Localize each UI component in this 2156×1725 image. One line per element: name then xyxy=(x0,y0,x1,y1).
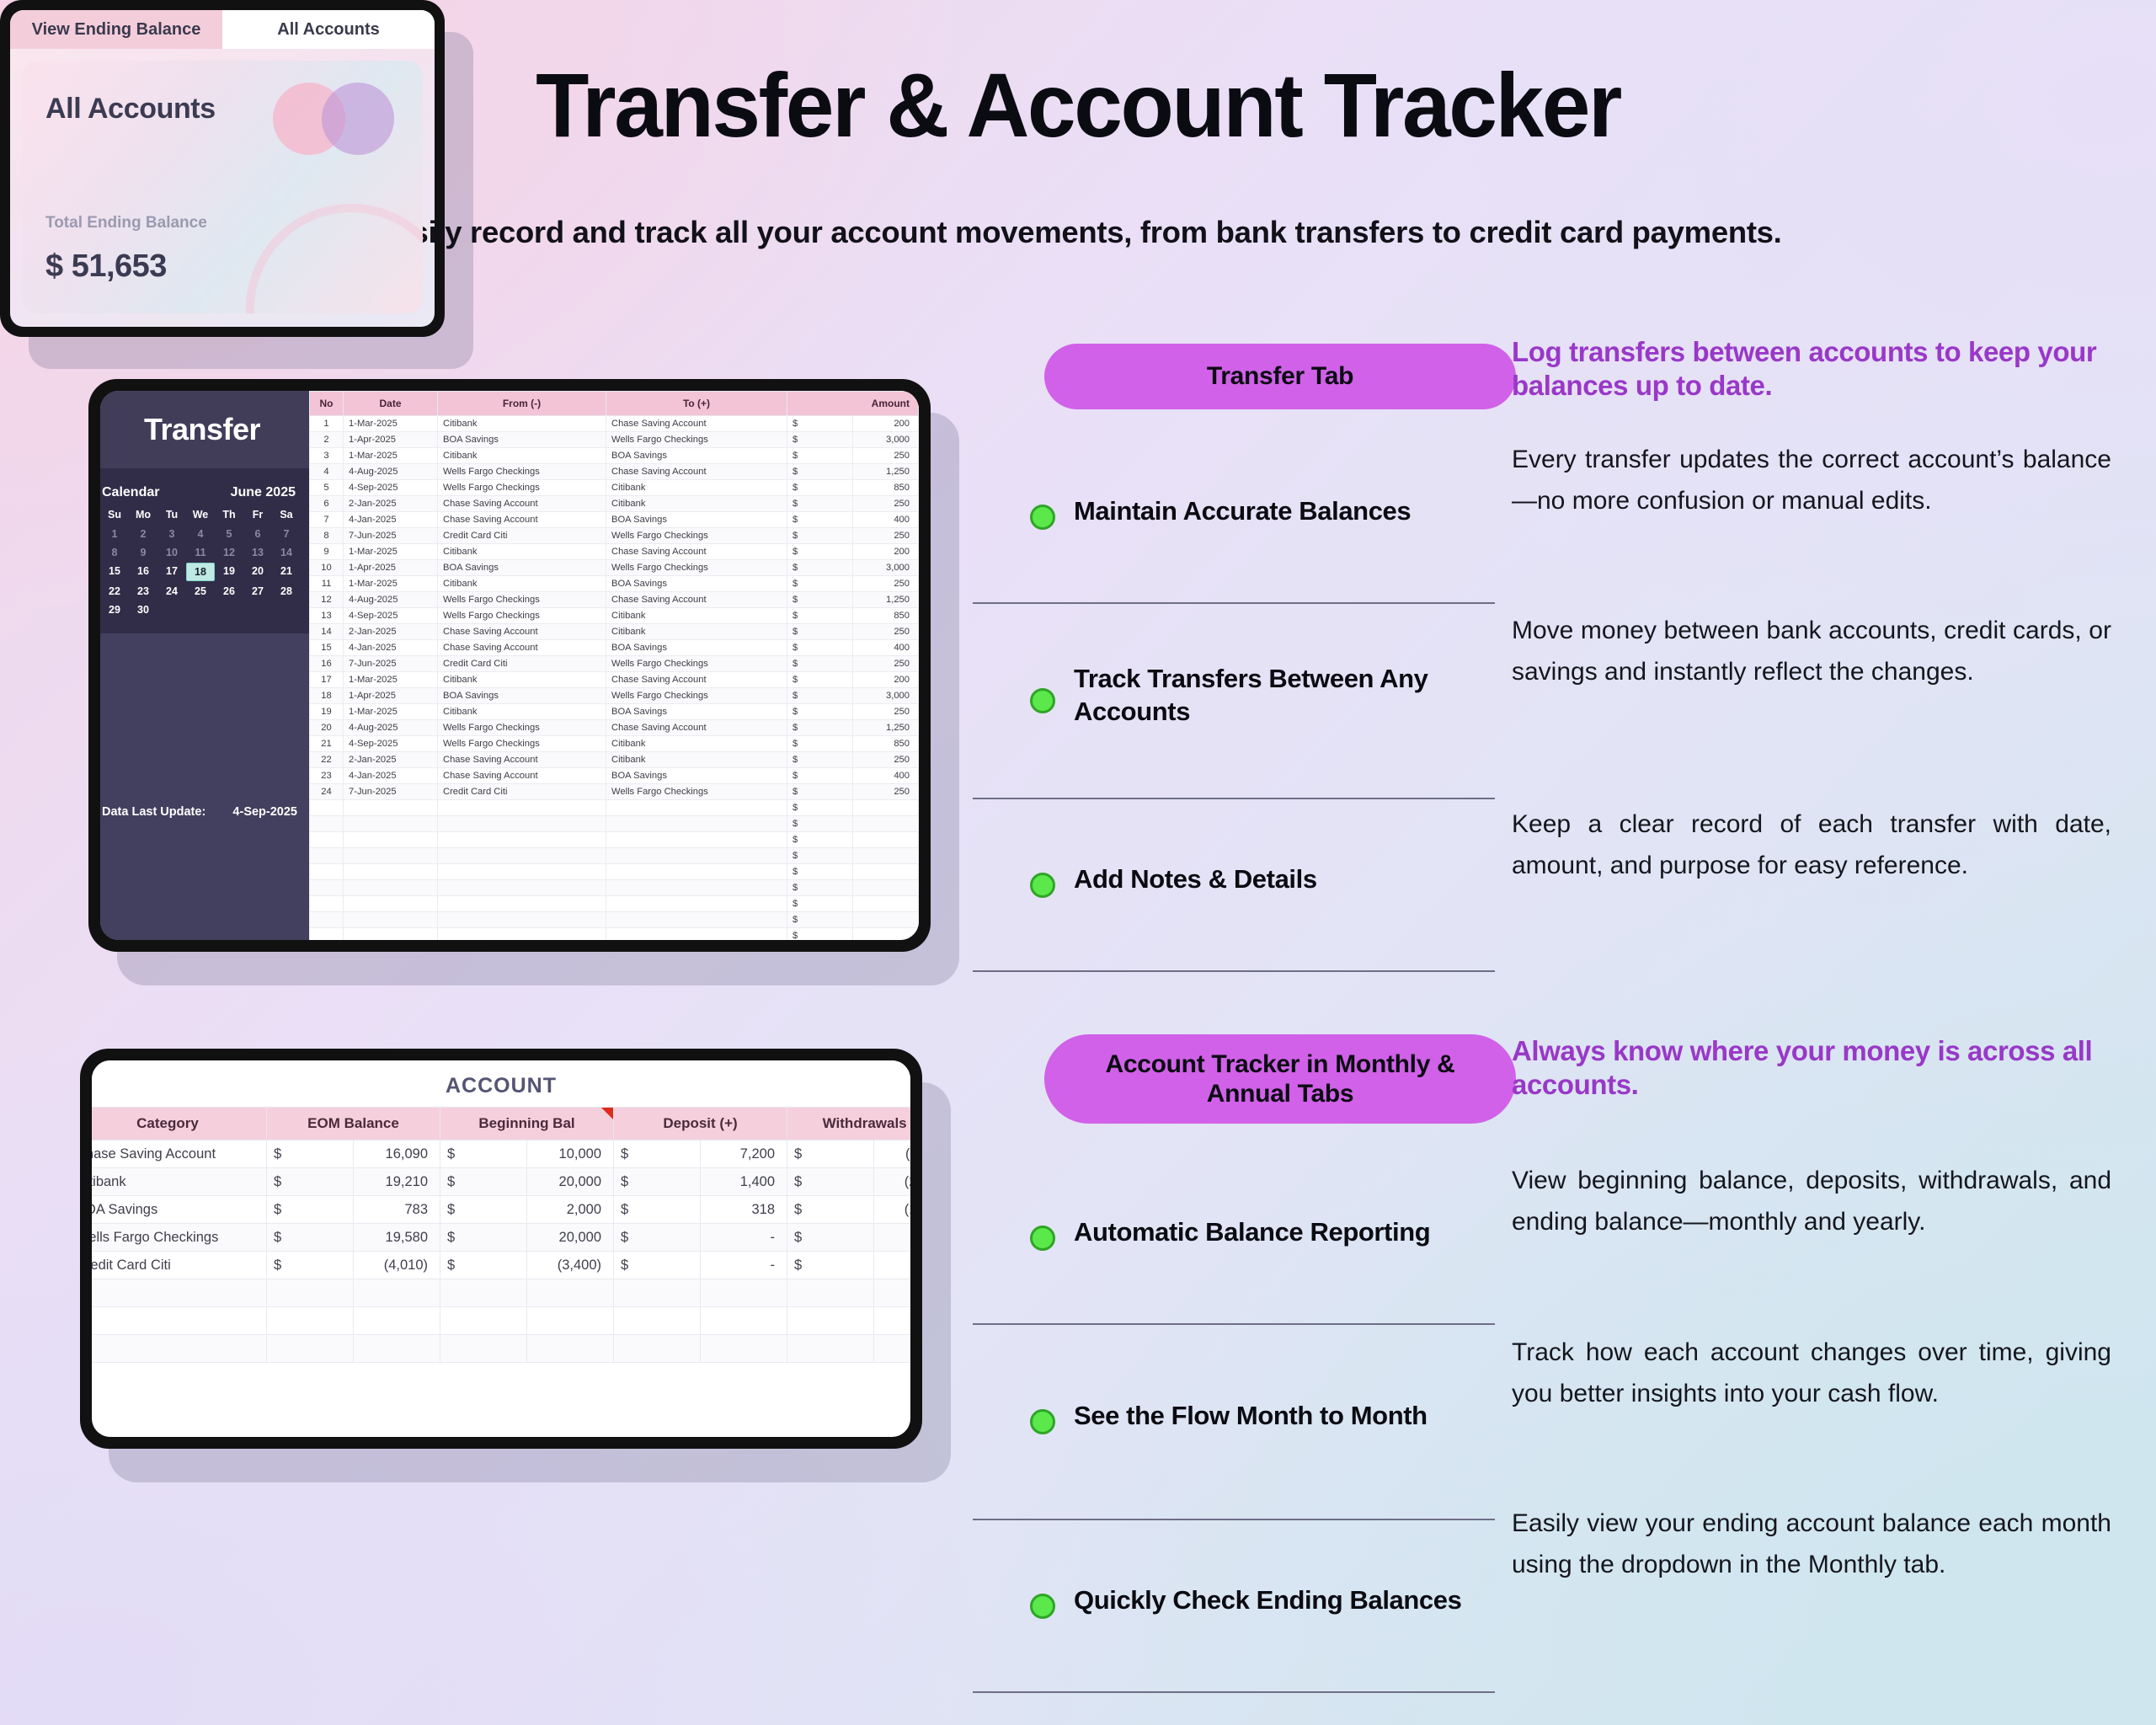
ending-balance-card-mockup: View Ending Balance All Accounts All Acc… xyxy=(0,0,445,337)
table-cell: 3,000 xyxy=(853,560,919,576)
table-cell: $ xyxy=(787,784,853,800)
table-cell: $ xyxy=(787,768,853,784)
table-cell xyxy=(874,1335,911,1363)
table-cell: (1,110) xyxy=(874,1140,911,1168)
table-cell xyxy=(267,1279,354,1307)
calendar-day[interactable]: 20 xyxy=(243,563,272,581)
table-cell xyxy=(606,832,787,848)
table-cell xyxy=(527,1279,614,1307)
table-cell: (610) xyxy=(874,1252,911,1279)
table-cell xyxy=(310,832,344,848)
account-col-header: Deposit (+) xyxy=(614,1108,787,1140)
table-cell: $ xyxy=(787,624,853,640)
table-cell: $ xyxy=(787,688,853,704)
transfer-col-header: Amount xyxy=(787,392,919,416)
table-cell: $ xyxy=(267,1224,354,1252)
calendar-dow: Su xyxy=(100,509,129,524)
table-cell: $ xyxy=(787,1196,874,1224)
table-cell xyxy=(606,800,787,816)
table-cell: $ xyxy=(787,752,853,768)
table-cell: Chase Saving Account xyxy=(606,672,787,688)
table-cell: 250 xyxy=(853,624,919,640)
calendar-day[interactable]: 11 xyxy=(186,544,215,561)
calendar-day[interactable]: 6 xyxy=(243,526,272,542)
calendar-day[interactable]: 2 xyxy=(129,526,157,542)
table-row[interactable]: 204-Aug-2025Wells Fargo CheckingsChase S… xyxy=(310,720,919,736)
table-cell: 7-Jun-2025 xyxy=(344,784,438,800)
table-cell: Wells Fargo Checkings xyxy=(438,608,606,624)
table-cell: Chase Saving Account xyxy=(438,624,606,640)
calendar-day[interactable]: 27 xyxy=(243,583,272,600)
table-cell xyxy=(344,816,438,832)
account-tablet-mockup: ACCOUNT CategoryEOM BalanceBeginning Bal… xyxy=(80,1049,922,1449)
table-row[interactable] xyxy=(92,1279,910,1307)
table-cell: $ xyxy=(614,1252,701,1279)
calendar-day[interactable]: 28 xyxy=(272,583,301,600)
table-cell: 4-Aug-2025 xyxy=(344,592,438,608)
transfer-spreadsheet[interactable]: NoDateFrom (-)To (+)Amount 11-Mar-2025Ci… xyxy=(309,391,919,940)
feature-paragraph: View beginning balance, deposits, withdr… xyxy=(1512,1161,2111,1242)
table-cell xyxy=(310,912,344,928)
table-cell: 20,000 xyxy=(527,1168,614,1196)
feature-label: Maintain Accurate Balances xyxy=(1074,494,1411,527)
table-cell: 2-Jan-2025 xyxy=(344,752,438,768)
feature-item[interactable]: Automatic Balance Reporting xyxy=(973,1152,1495,1325)
table-cell: 850 xyxy=(853,736,919,752)
calendar-day[interactable]: 19 xyxy=(215,563,243,581)
table-cell: Citibank xyxy=(438,416,606,432)
table-cell: $ xyxy=(787,608,853,624)
transfer-sidebar: Transfer Calendar June 2025 SuMoTuWeThFr… xyxy=(100,391,309,940)
last-update-label: Data Last Update: xyxy=(102,805,205,819)
table-cell: 5 xyxy=(310,480,344,496)
table-cell xyxy=(440,1307,527,1335)
table-row[interactable] xyxy=(92,1335,910,1363)
table-row[interactable]: BOA Savings$783$2,000$318$(1,535) xyxy=(92,1196,910,1224)
table-cell: 1,400 xyxy=(701,1168,787,1196)
table-cell: 1-Mar-2025 xyxy=(344,576,438,592)
table-cell: 1-Mar-2025 xyxy=(344,704,438,720)
table-cell: Chase Saving Account xyxy=(438,512,606,528)
table-cell: 10 xyxy=(310,560,344,576)
table-row[interactable]: $ xyxy=(310,848,919,864)
table-cell xyxy=(354,1335,440,1363)
table-cell xyxy=(310,848,344,864)
table-cell: $ xyxy=(787,640,853,656)
table-cell: 7 xyxy=(310,512,344,528)
table-cell xyxy=(606,816,787,832)
table-row[interactable]: 62-Jan-2025Chase Saving AccountCitibank$… xyxy=(310,496,919,512)
calendar-day[interactable]: 25 xyxy=(186,583,215,600)
table-row[interactable]: Wells Fargo Checkings$19,580$20,000$-$(4… xyxy=(92,1224,910,1252)
table-cell xyxy=(874,1307,911,1335)
table-cell: Chase Saving Account xyxy=(438,768,606,784)
table-cell: $ xyxy=(787,448,853,464)
table-cell: $ xyxy=(787,704,853,720)
table-cell xyxy=(606,848,787,864)
table-cell: $ xyxy=(787,592,853,608)
table-cell: $ xyxy=(787,816,853,832)
table-cell: 1-Apr-2025 xyxy=(344,432,438,448)
table-row[interactable]: $ xyxy=(310,928,919,941)
table-cell xyxy=(344,896,438,912)
table-row[interactable]: 31-Mar-2025CitibankBOA Savings$250 xyxy=(310,448,919,464)
section-kicker-transfer: Log transfers between accounts to keep y… xyxy=(1512,335,2127,403)
table-cell xyxy=(787,1279,874,1307)
transfer-table-header-row: NoDateFrom (-)To (+)Amount xyxy=(310,392,919,416)
table-cell xyxy=(310,928,344,941)
table-cell: $ xyxy=(787,1140,874,1168)
calendar-day[interactable]: 17 xyxy=(157,563,186,581)
section-kicker-account: Always know where your money is across a… xyxy=(1512,1034,2127,1103)
table-cell xyxy=(853,864,919,880)
table-row[interactable]: 21-Apr-2025BOA SavingsWells Fargo Checki… xyxy=(310,432,919,448)
table-cell: Wells Fargo Checkings xyxy=(606,688,787,704)
feature-item[interactable]: See the Flow Month to Month xyxy=(973,1325,1495,1520)
calendar-day[interactable]: 30 xyxy=(129,601,157,618)
calendar-day[interactable]: 24 xyxy=(157,583,186,600)
tab-view-ending-balance[interactable]: View Ending Balance xyxy=(10,10,222,49)
calendar-day[interactable]: 4 xyxy=(186,526,215,542)
table-cell: $ xyxy=(787,1224,874,1252)
table-cell xyxy=(438,864,606,880)
account-col-header: Category xyxy=(92,1108,267,1140)
table-cell: 14 xyxy=(310,624,344,640)
table-cell: Citibank xyxy=(438,672,606,688)
calendar-day[interactable]: 21 xyxy=(272,563,301,581)
table-row[interactable]: 247-Jun-2025Credit Card CitiWells Fargo … xyxy=(310,784,919,800)
calendar-day[interactable]: 12 xyxy=(215,544,243,561)
table-row[interactable] xyxy=(92,1307,910,1335)
table-row[interactable]: 44-Aug-2025Wells Fargo CheckingsChase Sa… xyxy=(310,464,919,480)
table-cell xyxy=(440,1335,527,1363)
table-cell: $ xyxy=(440,1168,527,1196)
table-cell: Chase Saving Account xyxy=(606,464,787,480)
calendar-dow: We xyxy=(186,509,215,524)
table-cell xyxy=(874,1279,911,1307)
table-cell: 9 xyxy=(310,544,344,560)
table-cell xyxy=(440,1279,527,1307)
table-cell: - xyxy=(701,1252,787,1279)
calendar-day[interactable]: 5 xyxy=(215,526,243,542)
table-cell: $ xyxy=(787,880,853,896)
table-cell xyxy=(701,1307,787,1335)
table-cell: Wells Fargo Checkings xyxy=(92,1224,267,1252)
feature-paragraph: Keep a clear record of each transfer wit… xyxy=(1512,804,2111,886)
table-cell: 850 xyxy=(853,608,919,624)
table-cell: 19 xyxy=(310,704,344,720)
table-cell xyxy=(853,896,919,912)
table-row[interactable]: Credit Card Citi$(4,010)$(3,400)$-$(610) xyxy=(92,1252,910,1279)
table-cell: Wells Fargo Checkings xyxy=(438,592,606,608)
table-row[interactable]: 167-Jun-2025Credit Card CitiWells Fargo … xyxy=(310,656,919,672)
calendar-day[interactable]: 9 xyxy=(129,544,157,561)
table-cell: 250 xyxy=(853,496,919,512)
table-row[interactable]: $ xyxy=(310,912,919,928)
feature-paragraph: Every transfer updates the correct accou… xyxy=(1512,440,2111,521)
table-cell xyxy=(92,1307,267,1335)
decorative-arc xyxy=(246,204,423,313)
calendar-dow: Sa xyxy=(272,509,301,524)
account-table[interactable]: CategoryEOM BalanceBeginning BalDeposit … xyxy=(92,1107,910,1363)
table-cell xyxy=(438,896,606,912)
table-cell: 1,250 xyxy=(853,720,919,736)
table-cell: Wells Fargo Checkings xyxy=(606,560,787,576)
calendar-dow: Th xyxy=(215,509,243,524)
account-sheet-title: ACCOUNT xyxy=(92,1060,910,1107)
calendar-day[interactable]: 8 xyxy=(100,544,129,561)
table-cell xyxy=(438,880,606,896)
table-row[interactable]: 111-Mar-2025CitibankBOA Savings$250 xyxy=(310,576,919,592)
table-cell: $ xyxy=(787,800,853,816)
table-cell: $ xyxy=(787,736,853,752)
calendar-day[interactable]: 7 xyxy=(272,526,301,542)
tab-all-accounts[interactable]: All Accounts xyxy=(222,10,435,49)
table-cell: $ xyxy=(267,1168,354,1196)
table-cell: 3,000 xyxy=(853,432,919,448)
calendar-label: Calendar xyxy=(102,485,159,500)
section-pill-account-tracker[interactable]: Account Tracker in Monthly & Annual Tabs xyxy=(1044,1034,1516,1124)
table-cell: $ xyxy=(787,512,853,528)
table-cell: $ xyxy=(787,480,853,496)
table-row[interactable]: 154-Jan-2025Chase Saving AccountBOA Savi… xyxy=(310,640,919,656)
table-cell: 250 xyxy=(853,528,919,544)
total-ending-balance-value: $ 51,653 xyxy=(45,248,167,285)
bullet-dot-icon xyxy=(1030,1226,1055,1251)
calendar-day[interactable]: 10 xyxy=(157,544,186,561)
feature-item[interactable]: Maintain Accurate Balances xyxy=(973,431,1495,604)
table-cell xyxy=(853,800,919,816)
table-cell: 400 xyxy=(853,512,919,528)
table-row[interactable]: 91-Mar-2025CitibankChase Saving Account$… xyxy=(310,544,919,560)
table-cell: - xyxy=(701,1224,787,1252)
table-cell: Chase Saving Account xyxy=(438,640,606,656)
table-cell xyxy=(344,848,438,864)
table-cell: $ xyxy=(787,896,853,912)
table-row[interactable]: $ xyxy=(310,864,919,880)
table-row[interactable]: $ xyxy=(310,896,919,912)
table-cell: $ xyxy=(614,1224,701,1252)
account-table-header-row: CategoryEOM BalanceBeginning BalDeposit … xyxy=(92,1108,910,1140)
table-cell: 1,250 xyxy=(853,592,919,608)
table-cell: $ xyxy=(787,528,853,544)
table-cell: Citibank xyxy=(438,576,606,592)
table-cell xyxy=(853,848,919,864)
table-cell: 1-Mar-2025 xyxy=(344,672,438,688)
table-cell: Chase Saving Account xyxy=(438,496,606,512)
table-row[interactable]: Chase Saving Account$16,090$10,000$7,200… xyxy=(92,1140,910,1168)
table-cell: Citibank xyxy=(438,448,606,464)
feature-paragraph: Move money between bank accounts, credit… xyxy=(1512,611,2111,692)
table-row[interactable]: $ xyxy=(310,880,919,896)
transfer-sidebar-header: Transfer xyxy=(100,391,309,468)
calendar-dow: Fr xyxy=(243,509,272,524)
transfer-col-header: From (-) xyxy=(438,392,606,416)
table-cell: $ xyxy=(787,432,853,448)
table-cell: 850 xyxy=(853,480,919,496)
calendar-day[interactable]: 26 xyxy=(215,583,243,600)
table-row[interactable]: 134-Sep-2025Wells Fargo CheckingsCitiban… xyxy=(310,608,919,624)
calendar-day[interactable]: 15 xyxy=(100,563,129,581)
calendar-dow: Tu xyxy=(157,509,186,524)
table-cell: 1,250 xyxy=(853,464,919,480)
table-cell: 24 xyxy=(310,784,344,800)
table-cell: 4-Sep-2025 xyxy=(344,480,438,496)
bullet-dot-icon xyxy=(1030,873,1055,898)
table-row[interactable]: 54-Sep-2025Wells Fargo CheckingsCitibank… xyxy=(310,480,919,496)
feature-label: Track Transfers Between Any Accounts xyxy=(1074,662,1495,728)
overlap-circle-right-icon xyxy=(322,83,394,155)
table-cell: 2-Jan-2025 xyxy=(344,496,438,512)
table-cell: 2,000 xyxy=(527,1196,614,1224)
table-cell: $ xyxy=(787,928,853,941)
table-cell: 783 xyxy=(354,1196,440,1224)
calendar-day[interactable]: 23 xyxy=(129,583,157,600)
table-cell xyxy=(344,800,438,816)
table-row[interactable]: 74-Jan-2025Chase Saving AccountBOA Savin… xyxy=(310,512,919,528)
table-cell: (2,190) xyxy=(874,1168,911,1196)
table-cell: 10,000 xyxy=(527,1140,614,1168)
table-row[interactable]: $ xyxy=(310,832,919,848)
calendar-grid[interactable]: SuMoTuWeThFrSa12345678910111213141516171… xyxy=(100,509,309,618)
table-cell: Wells Fargo Checkings xyxy=(606,656,787,672)
table-cell: 6 xyxy=(310,496,344,512)
table-row[interactable]: $ xyxy=(310,800,919,816)
table-cell xyxy=(344,864,438,880)
table-cell xyxy=(310,896,344,912)
calendar-day[interactable]: 13 xyxy=(243,544,272,561)
transfer-col-header: No xyxy=(310,392,344,416)
table-cell: $ xyxy=(614,1140,701,1168)
table-cell: 11 xyxy=(310,576,344,592)
table-cell: BOA Savings xyxy=(606,640,787,656)
balance-card-tabs: View Ending Balance All Accounts xyxy=(10,10,435,49)
table-cell: 250 xyxy=(853,752,919,768)
table-cell: Citibank xyxy=(606,736,787,752)
table-cell: Credit Card Citi xyxy=(438,784,606,800)
table-cell: 20 xyxy=(310,720,344,736)
table-cell xyxy=(344,880,438,896)
table-cell: $ xyxy=(787,720,853,736)
table-cell: 7-Jun-2025 xyxy=(344,656,438,672)
table-cell: 17 xyxy=(310,672,344,688)
table-cell: Wells Fargo Checkings xyxy=(606,432,787,448)
feature-item[interactable]: Add Notes & Details xyxy=(973,799,1495,972)
feature-paragraph: Track how each account changes over time… xyxy=(1512,1332,2111,1414)
balance-card-title: All Accounts xyxy=(45,93,216,126)
table-row[interactable]: 234-Jan-2025Chase Saving AccountBOA Savi… xyxy=(310,768,919,784)
table-cell: Wells Fargo Checkings xyxy=(606,784,787,800)
table-cell: $ xyxy=(787,544,853,560)
table-row[interactable]: 101-Apr-2025BOA SavingsWells Fargo Check… xyxy=(310,560,919,576)
table-row[interactable]: 214-Sep-2025Wells Fargo CheckingsCitiban… xyxy=(310,736,919,752)
table-cell xyxy=(92,1279,267,1307)
table-cell xyxy=(438,800,606,816)
table-cell: $ xyxy=(787,496,853,512)
table-cell: Wells Fargo Checkings xyxy=(438,720,606,736)
feature-item[interactable]: Track Transfers Between Any Accounts xyxy=(973,604,1495,799)
table-cell: 200 xyxy=(853,416,919,432)
table-row[interactable]: $ xyxy=(310,816,919,832)
table-cell: Citibank xyxy=(606,480,787,496)
table-cell xyxy=(267,1307,354,1335)
table-row[interactable]: 181-Apr-2025BOA SavingsWells Fargo Check… xyxy=(310,688,919,704)
calendar-day-selected[interactable]: 18 xyxy=(186,563,215,581)
table-cell xyxy=(344,912,438,928)
table-cell: 21 xyxy=(310,736,344,752)
table-cell: 250 xyxy=(853,784,919,800)
table-row[interactable]: 171-Mar-2025CitibankChase Saving Account… xyxy=(310,672,919,688)
table-cell: 20,000 xyxy=(527,1224,614,1252)
calendar-day[interactable]: 3 xyxy=(157,526,186,542)
table-cell: $ xyxy=(787,832,853,848)
table-cell: 13 xyxy=(310,608,344,624)
table-cell xyxy=(606,928,787,941)
feature-label: See the Flow Month to Month xyxy=(1074,1399,1428,1432)
table-cell: $ xyxy=(267,1252,354,1279)
calendar-day[interactable]: 22 xyxy=(100,583,129,600)
table-cell: 250 xyxy=(853,448,919,464)
table-cell: Citibank xyxy=(606,624,787,640)
table-cell: $ xyxy=(267,1196,354,1224)
poster-canvas: Transfer & Account Tracker Easily record… xyxy=(0,0,2156,1725)
table-cell xyxy=(438,928,606,941)
table-cell: Chase Saving Account xyxy=(438,752,606,768)
table-cell: Chase Saving Account xyxy=(606,416,787,432)
table-row[interactable]: 124-Aug-2025Wells Fargo CheckingsChase S… xyxy=(310,592,919,608)
table-cell: 12 xyxy=(310,592,344,608)
calendar-day[interactable]: 29 xyxy=(100,601,129,618)
table-cell: $ xyxy=(440,1252,527,1279)
table-row[interactable]: Citibank$19,210$20,000$1,400$(2,190) xyxy=(92,1168,910,1196)
calendar-day[interactable]: 16 xyxy=(129,563,157,581)
feature-list-transfer: Maintain Accurate BalancesTrack Transfer… xyxy=(973,431,1495,972)
table-cell: Chase Saving Account xyxy=(606,544,787,560)
table-cell: Chase Saving Account xyxy=(92,1140,267,1168)
calendar-day[interactable]: 14 xyxy=(272,544,301,561)
total-ending-balance-label: Total Ending Balance xyxy=(45,214,207,232)
feature-item[interactable]: Quickly Check Ending Balances xyxy=(973,1520,1495,1693)
table-cell xyxy=(310,800,344,816)
table-cell: 16 xyxy=(310,656,344,672)
table-cell: 1-Apr-2025 xyxy=(344,560,438,576)
table-cell: Chase Saving Account xyxy=(606,592,787,608)
table-cell: 200 xyxy=(853,672,919,688)
table-cell: 1-Mar-2025 xyxy=(344,544,438,560)
feature-label: Quickly Check Ending Balances xyxy=(1074,1583,1461,1616)
table-cell xyxy=(354,1279,440,1307)
table-cell xyxy=(606,880,787,896)
table-cell: 4 xyxy=(310,464,344,480)
table-cell: $ xyxy=(440,1224,527,1252)
section-pill-transfer-tab[interactable]: Transfer Tab xyxy=(1044,344,1516,409)
table-cell xyxy=(787,1335,874,1363)
calendar-day[interactable]: 1 xyxy=(100,526,129,542)
table-row[interactable]: 11-Mar-2025CitibankChase Saving Account$… xyxy=(310,416,919,432)
table-row[interactable]: 142-Jan-2025Chase Saving AccountCitibank… xyxy=(310,624,919,640)
table-row[interactable]: 222-Jan-2025Chase Saving AccountCitibank… xyxy=(310,752,919,768)
table-cell xyxy=(438,832,606,848)
table-cell: 4-Aug-2025 xyxy=(344,720,438,736)
cell-comment-marker-icon xyxy=(601,1108,613,1119)
table-row[interactable]: 191-Mar-2025CitibankBOA Savings$250 xyxy=(310,704,919,720)
table-cell: $ xyxy=(787,656,853,672)
table-row[interactable]: 87-Jun-2025Credit Card CitiWells Fargo C… xyxy=(310,528,919,544)
table-cell: $ xyxy=(787,416,853,432)
table-cell: 250 xyxy=(853,704,919,720)
table-cell xyxy=(267,1335,354,1363)
table-cell xyxy=(310,816,344,832)
